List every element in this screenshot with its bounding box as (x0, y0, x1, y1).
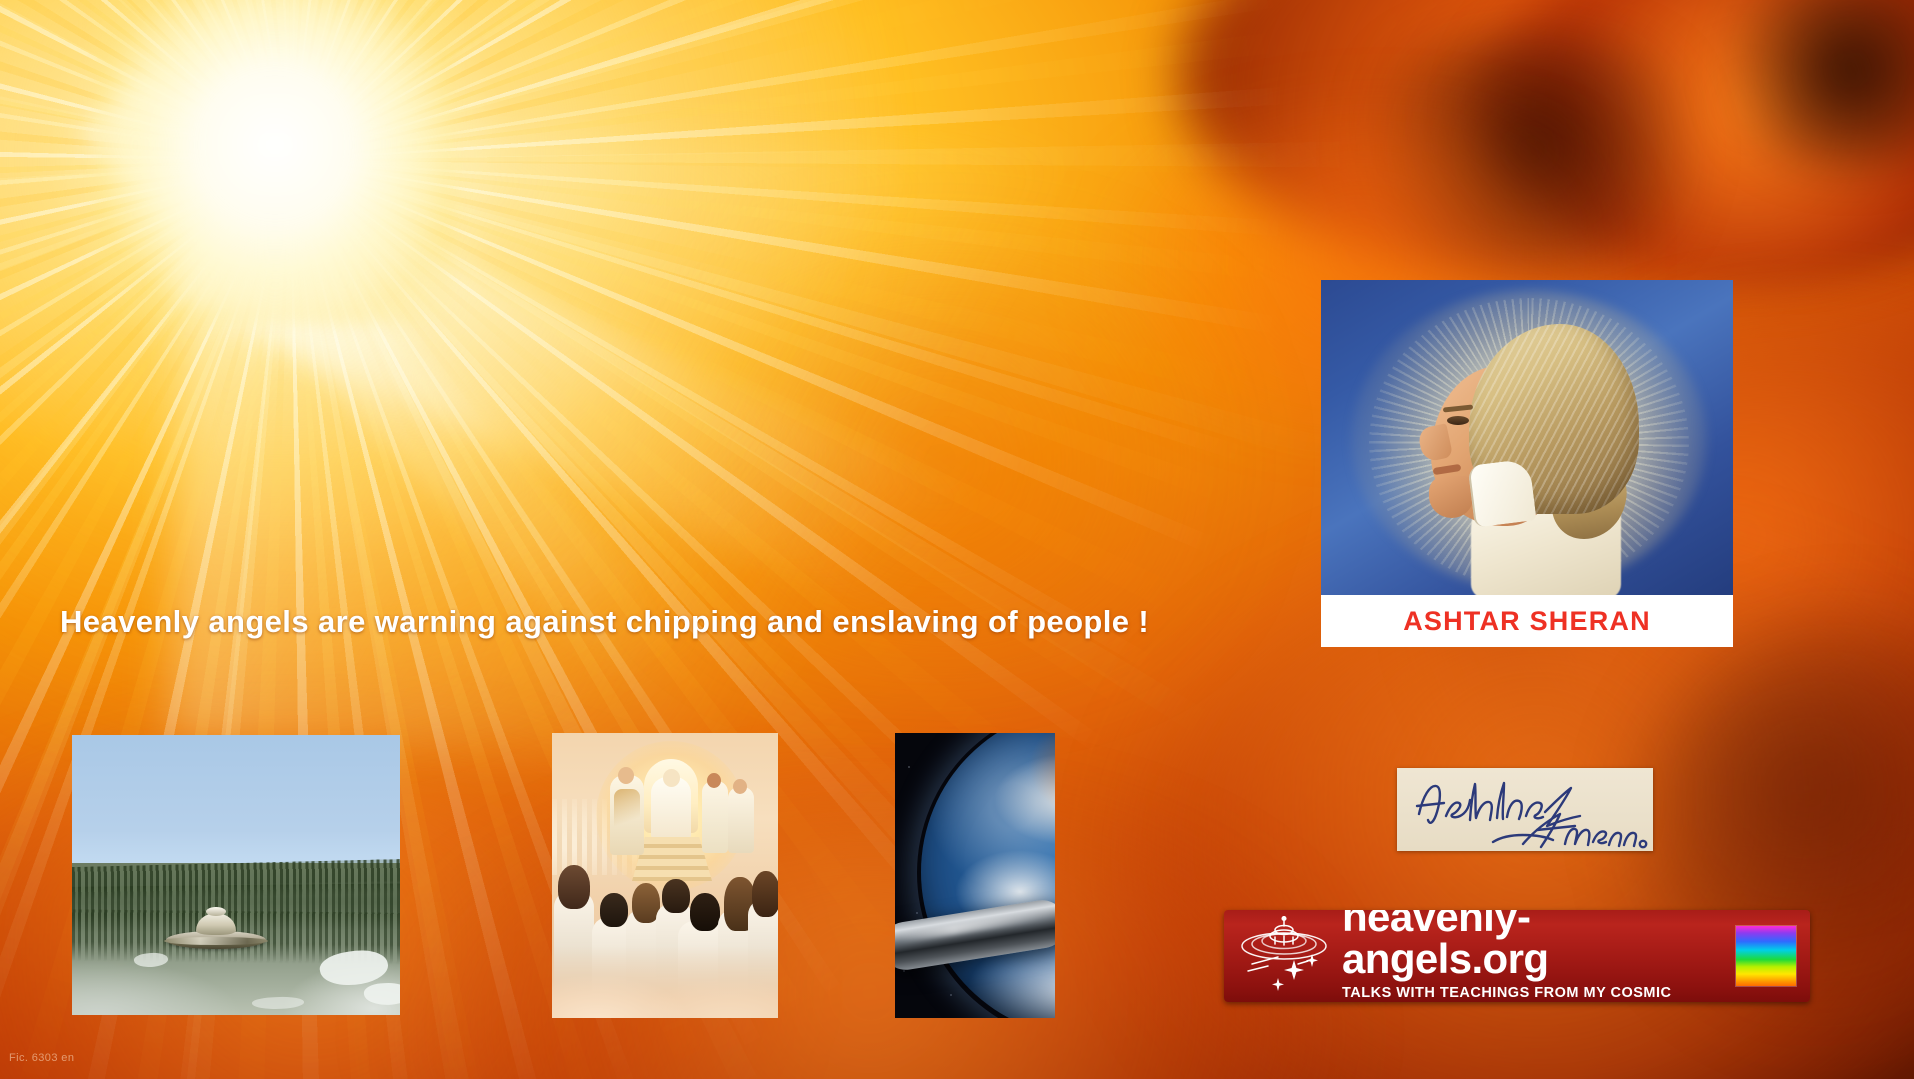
foreground-person-hair (558, 865, 590, 909)
standing-figure-head (707, 773, 721, 788)
site-banner[interactable]: heavenly-angels.org TALKS WITH TEACHINGS… (1224, 910, 1810, 1002)
photo-craft-over-earth (895, 733, 1055, 1018)
photo-ufo-over-hills (72, 735, 400, 1015)
flying-saucer-icon (1234, 916, 1338, 996)
portrait-chin (1429, 476, 1473, 518)
photo-heavenly-throne (552, 733, 778, 1018)
ashtar-sheran-signature (1397, 768, 1653, 851)
foreground-person-hair (752, 871, 778, 917)
ashtar-sheran-portrait (1321, 280, 1733, 595)
foreground-person-hair (600, 893, 628, 927)
foreground-person-hair (662, 879, 690, 913)
seated-figure-head (663, 769, 680, 787)
portrait-caption-bar: ASHTAR SHERAN (1321, 595, 1733, 647)
standing-figure-robe (728, 787, 754, 853)
foreground-clouds (552, 946, 778, 1018)
banner-tagline: TALKS WITH TEACHINGS FROM MY COSMIC FRIE… (1342, 985, 1736, 1003)
standing-figure-head (618, 767, 634, 784)
signature-ink (1397, 768, 1653, 851)
standing-figure-robe (702, 781, 728, 853)
headline-text: Heavenly angels are warning against chip… (60, 604, 1149, 640)
standing-figure-head (733, 779, 747, 794)
rainbow-swatch-icon (1736, 926, 1796, 986)
portrait-eye (1447, 416, 1469, 425)
banner-domain[interactable]: heavenly-angels.org (1342, 910, 1736, 980)
flying-saucer-rim (164, 937, 268, 945)
portrait-caption-text: ASHTAR SHERAN (1403, 606, 1651, 637)
sun-core (95, 0, 455, 325)
foreground-person-hair (690, 893, 720, 931)
standing-figure-sash (614, 789, 640, 843)
throne-steps (632, 837, 712, 881)
flying-saucer-turret (206, 907, 226, 916)
figure-caption: Fic. 6303 en (9, 1052, 74, 1064)
banner-text-block: heavenly-angels.org TALKS WITH TEACHINGS… (1338, 910, 1736, 1002)
poster-canvas: Heavenly angels are warning against chip… (0, 0, 1914, 1079)
